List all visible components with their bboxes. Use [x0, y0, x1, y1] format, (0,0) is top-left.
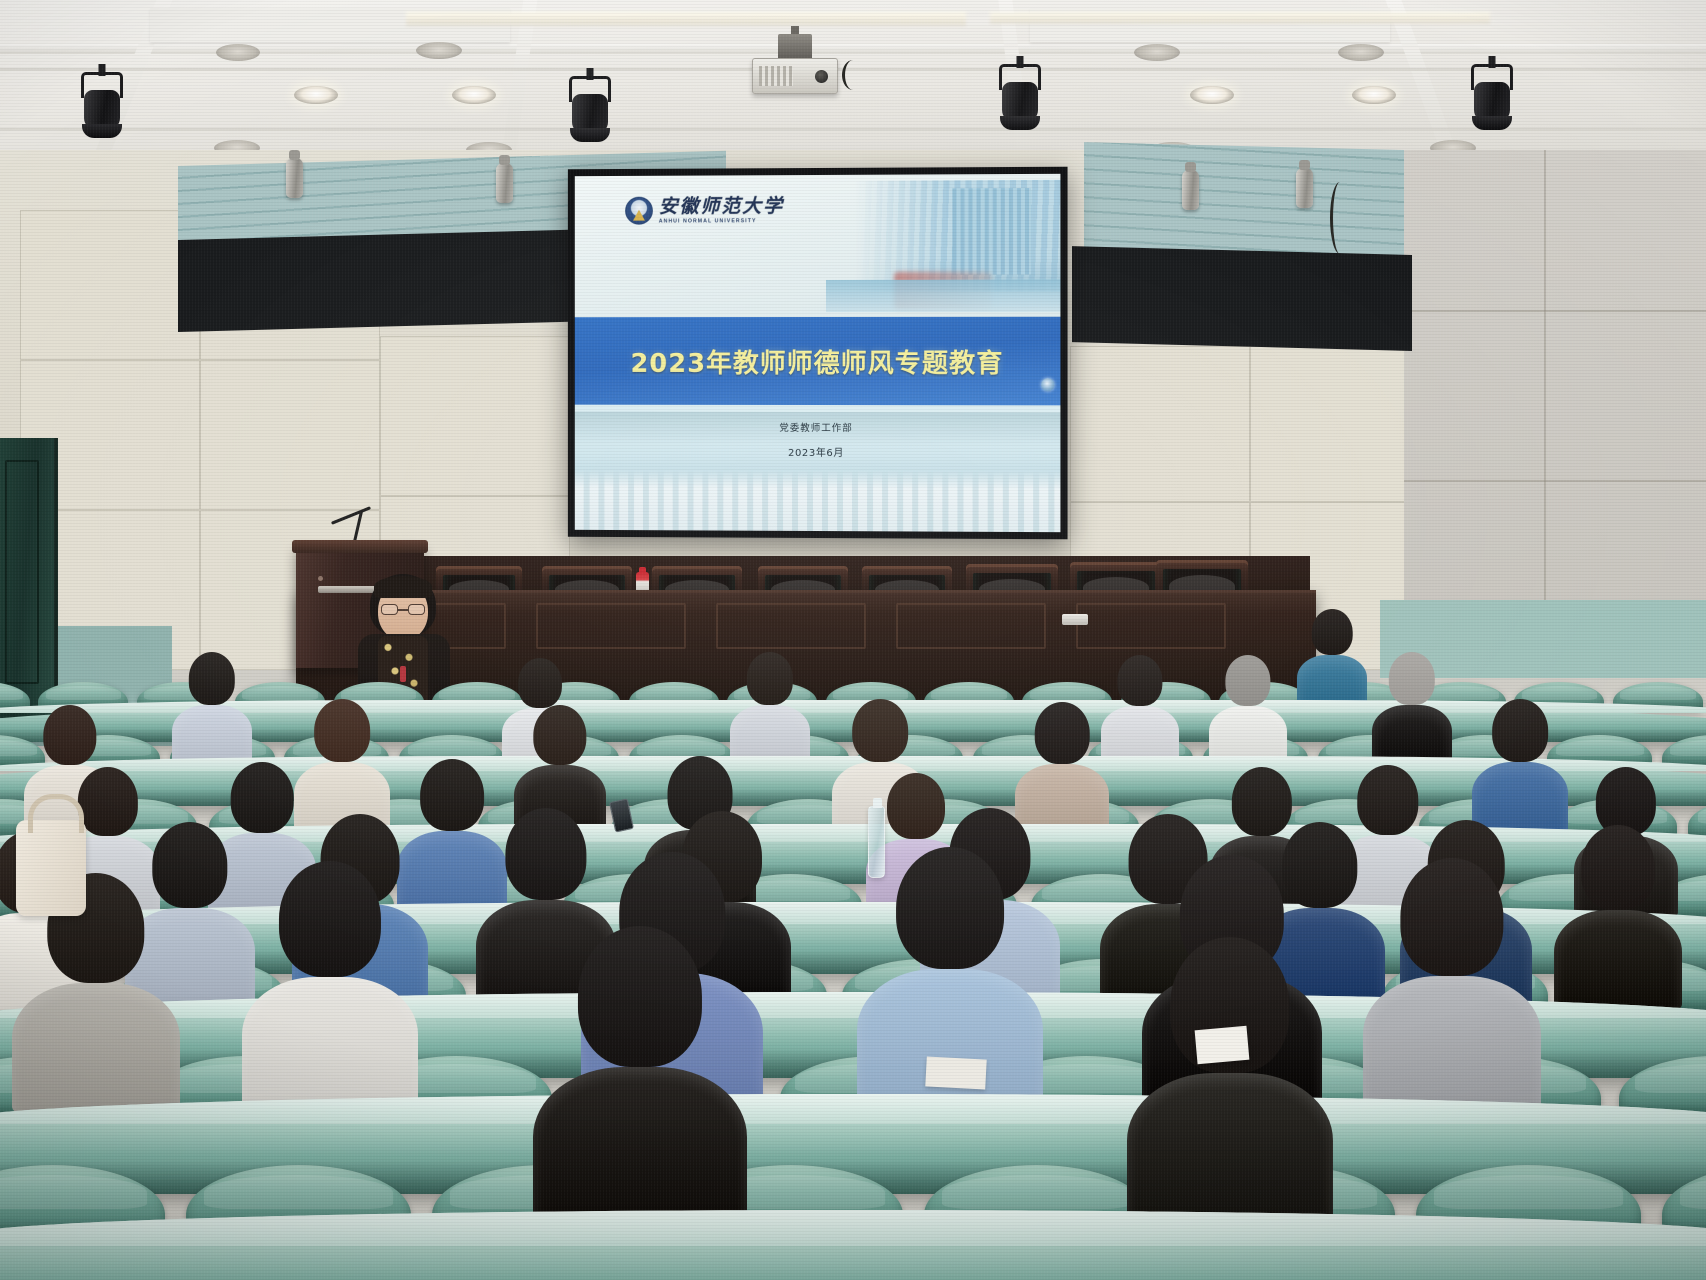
slide-title-band: 2023年教师师德师风专题教育 — [575, 317, 1061, 405]
audience-member-head — [1035, 702, 1090, 764]
audience-member-head — [1117, 655, 1162, 706]
audience-member — [1363, 858, 1541, 1114]
audience-member-head — [1312, 609, 1353, 655]
downlight-icon — [294, 86, 338, 104]
university-name-cn: 安徽师范大学 — [659, 197, 784, 216]
downlight-icon — [416, 42, 462, 59]
screen-logo-dot-icon — [1041, 378, 1054, 391]
slide-surface: 安徽师范大学 ANHUI NORMAL UNIVERSITY 2023年教师师德… — [575, 174, 1061, 532]
projector-mount — [778, 34, 812, 60]
stage-spotlight — [78, 72, 126, 142]
handout-paper — [1195, 1026, 1250, 1064]
lectern-top — [292, 540, 428, 553]
audience-member — [242, 861, 418, 1114]
downlight-icon — [1338, 44, 1384, 61]
stage-spotlight — [566, 76, 614, 146]
projection-screen: 安徽师范大学 ANHUI NORMAL UNIVERSITY 2023年教师师德… — [568, 167, 1068, 540]
wall-spotlight — [496, 163, 513, 203]
audience-member — [730, 652, 810, 767]
ceiling-projector — [752, 58, 838, 94]
wall-spotlight — [1296, 168, 1313, 208]
audience-member-torso — [1554, 910, 1682, 1010]
audience-member-torso — [857, 969, 1043, 1114]
audience-member-head — [1225, 655, 1270, 706]
slide-title: 2023年教师师德师风专题教育 — [630, 342, 1003, 379]
downlight-icon — [452, 86, 496, 104]
handout-paper — [925, 1056, 986, 1089]
audience-member-torso — [242, 977, 418, 1114]
audience-member-head — [852, 699, 908, 762]
audience-member-torso — [1127, 1073, 1333, 1234]
slide-header: 安徽师范大学 ANHUI NORMAL UNIVERSITY — [575, 174, 1061, 318]
audience-member — [1372, 652, 1452, 767]
audience-member — [533, 926, 747, 1234]
audience-member-torso — [1363, 976, 1541, 1115]
audience-member-head — [43, 705, 96, 766]
university-logo: 安徽师范大学 ANHUI NORMAL UNIVERSITY — [625, 196, 784, 225]
acoustic-slat-panel-right — [1084, 142, 1404, 260]
audience-member-head — [505, 808, 586, 900]
audience-member-head — [1400, 858, 1503, 975]
glasses-icon — [381, 604, 425, 615]
audience-member — [1127, 937, 1333, 1234]
right-wall — [1404, 150, 1706, 670]
audience-member-head — [279, 861, 381, 977]
audience-member — [172, 652, 252, 767]
downlight-icon — [1134, 44, 1180, 61]
audience-member-head — [189, 652, 235, 705]
stage-spotlight — [996, 64, 1044, 134]
slide-date: 2023年6月 — [575, 443, 1061, 459]
slide-footer: 党委教师工作部 2023年6月 — [575, 404, 1061, 532]
audience-member — [1554, 825, 1682, 1009]
audience-member — [1209, 655, 1287, 767]
wall-spotlight — [1182, 170, 1199, 210]
audience-member-torso — [533, 1067, 747, 1234]
audience-member — [1472, 699, 1568, 837]
slide-department: 党委教师工作部 — [575, 419, 1061, 434]
lecture-hall-photo: 安徽师范大学 ANHUI NORMAL UNIVERSITY 2023年教师师德… — [0, 0, 1706, 1280]
audience-member-head — [1389, 652, 1435, 705]
audience-member-head — [747, 652, 793, 705]
wall-spotlight — [286, 158, 303, 198]
audience-member-head — [533, 705, 586, 766]
audience-member-head — [314, 699, 370, 762]
audience-member — [1297, 609, 1367, 710]
downlight-icon — [1190, 86, 1234, 104]
downlight-icon — [1352, 86, 1396, 104]
audience-member-head — [578, 926, 702, 1067]
university-seal-icon — [625, 197, 653, 225]
audience-member-head — [1581, 825, 1655, 909]
downlight-icon — [216, 44, 260, 61]
stage-spotlight — [1468, 64, 1516, 134]
fascia-band-right — [1072, 246, 1412, 351]
tote-bag — [16, 820, 86, 916]
audience-member-head — [518, 658, 562, 708]
auditorium-desk-row — [0, 1210, 1706, 1280]
stage-device-icon — [1062, 614, 1088, 625]
university-name-en: ANHUI NORMAL UNIVERSITY — [659, 219, 784, 225]
audience-member-torso — [12, 983, 180, 1114]
audience-member-head — [896, 847, 1004, 970]
audience-water-bottle — [868, 806, 885, 878]
audience-member-head — [420, 759, 484, 832]
audience-member — [1101, 655, 1179, 767]
audience-member-head — [1492, 699, 1548, 762]
side-door[interactable] — [0, 438, 58, 718]
